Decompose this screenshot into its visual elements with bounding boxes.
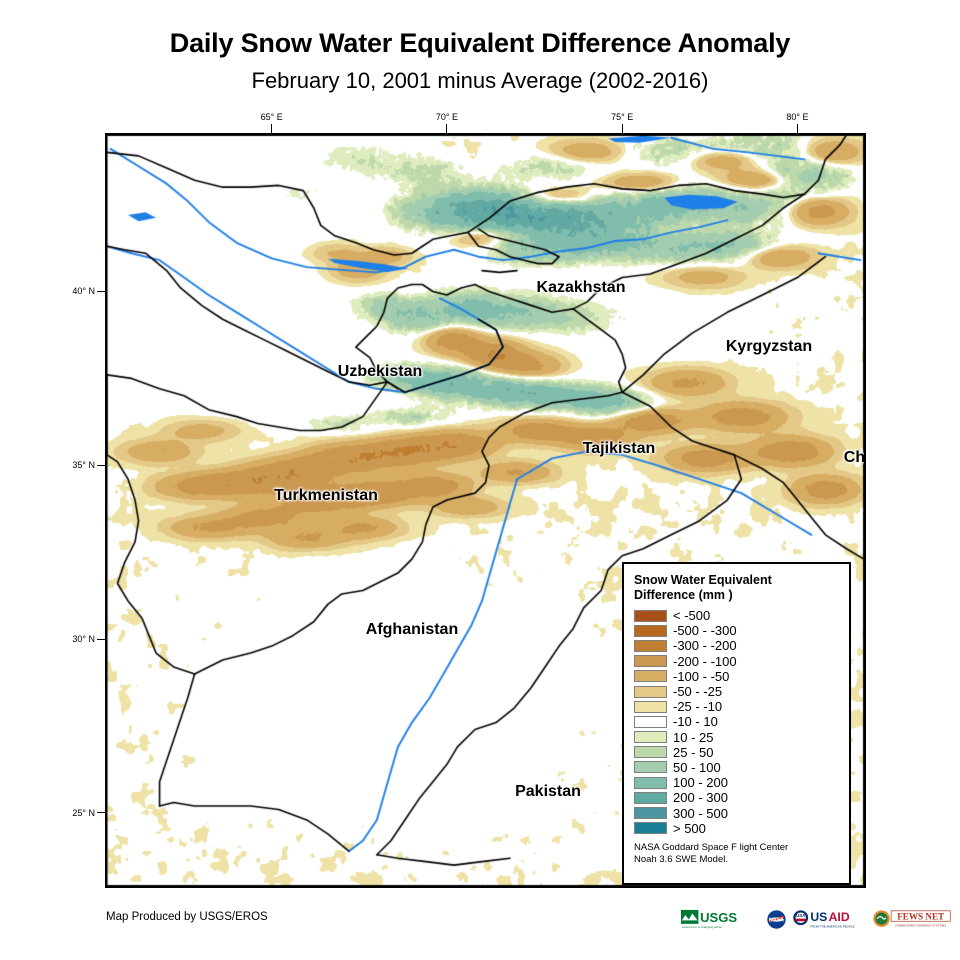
lat-tick-35: 35° N [43, 460, 95, 470]
lat-tick-mark-40 [97, 291, 105, 292]
lon-tick-mark-80 [797, 124, 798, 133]
legend-label: < -500 [673, 609, 710, 622]
lon-tick-mark-70 [446, 124, 447, 133]
legend-label: 100 - 200 [673, 776, 728, 789]
svg-text:NASA: NASA [769, 917, 784, 923]
lon-tick-mark-65 [271, 124, 272, 133]
legend-swatch [634, 777, 667, 789]
svg-text:science for a changing world: science for a changing world [682, 925, 722, 929]
legend-swatch [634, 792, 667, 804]
lon-tick-80: 80° E [786, 112, 808, 122]
svg-text:AID: AID [829, 910, 850, 924]
nasa-logo: NASA [766, 909, 787, 930]
svg-text:USA: USA [796, 913, 806, 918]
lon-tick-mark-75 [622, 124, 623, 133]
lat-tick-30: 30° N [43, 634, 95, 644]
legend-row: 25 - 50 [634, 745, 839, 760]
poster-root: Daily Snow Water Equivalent Difference A… [0, 0, 960, 960]
legend-row: 50 - 100 [634, 760, 839, 775]
legend-label: -10 - 10 [673, 715, 718, 728]
legend-label: -500 - -300 [673, 624, 737, 637]
legend-swatch [634, 822, 667, 834]
legend-swatch [634, 701, 667, 713]
lat-tick-mark-30 [97, 639, 105, 640]
svg-text:US: US [810, 910, 827, 924]
legend-label: 10 - 25 [673, 731, 713, 744]
usaid-logo: USA US AID FROM THE AMERICAN PEOPLE [792, 909, 867, 930]
legend-row: -300 - -200 [634, 638, 839, 653]
legend-row: < -500 [634, 608, 839, 623]
lat-tick-mark-25 [97, 812, 105, 813]
legend-title-line2: Difference (mm ) [634, 588, 839, 603]
legend-row: > 500 [634, 821, 839, 836]
lon-tick-65: 65° E [261, 112, 283, 122]
legend-swatch [634, 761, 667, 773]
legend-row: -100 - -50 [634, 669, 839, 684]
page-subtitle: February 10, 2001 minus Average (2002-20… [0, 68, 960, 94]
legend-row: 300 - 500 [634, 805, 839, 820]
lon-tick-75: 75° E [611, 112, 633, 122]
legend-panel: Snow Water Equivalent Difference (mm ) <… [622, 562, 851, 885]
lat-tick-25: 25° N [43, 808, 95, 818]
lat-tick-mark-35 [97, 465, 105, 466]
legend-row: 100 - 200 [634, 775, 839, 790]
legend-label: 25 - 50 [673, 746, 713, 759]
legend-row: -200 - -100 [634, 654, 839, 669]
legend-footnote-line2: Noah 3.6 SWE Model. [634, 854, 839, 866]
legend-swatch [634, 746, 667, 758]
legend-swatch [634, 686, 667, 698]
legend-row: -10 - 10 [634, 714, 839, 729]
map-credit: Map Produced by USGS/EROS [106, 911, 268, 923]
usgs-logo: USGS science for a changing world [681, 909, 761, 930]
legend-class-list: < -500-500 - -300-300 - -200-200 - -100-… [634, 608, 839, 836]
agency-logo-strip: USGS science for a changing world NASA U… [681, 909, 952, 930]
legend-swatch [634, 731, 667, 743]
lat-tick-40: 40° N [43, 286, 95, 296]
legend-label: -200 - -100 [673, 655, 737, 668]
legend-swatch [634, 807, 667, 819]
legend-swatch [634, 610, 667, 622]
legend-label: 200 - 300 [673, 791, 728, 804]
legend-label: > 500 [673, 822, 706, 835]
legend-label: -100 - -50 [673, 670, 729, 683]
legend-label: -300 - -200 [673, 639, 737, 652]
legend-row: -500 - -300 [634, 623, 839, 638]
lon-tick-70: 70° E [436, 112, 458, 122]
legend-title: Snow Water Equivalent Difference (mm ) [634, 573, 839, 603]
fewsnet-logo: FEWS NET FAMINE EARLY WARNING SYSTEMS [872, 909, 952, 930]
legend-row: 200 - 300 [634, 790, 839, 805]
legend-footnote-line1: NASA Goddard Space F light Center [634, 842, 839, 854]
legend-swatch [634, 625, 667, 637]
legend-row: -25 - -10 [634, 699, 839, 714]
svg-text:FROM THE AMERICAN PEOPLE: FROM THE AMERICAN PEOPLE [810, 924, 854, 928]
legend-label: -50 - -25 [673, 685, 722, 698]
legend-row: 10 - 25 [634, 730, 839, 745]
legend-row: -50 - -25 [634, 684, 839, 699]
svg-text:USGS: USGS [700, 910, 737, 925]
legend-label: 50 - 100 [673, 761, 721, 774]
svg-text:FAMINE EARLY WARNING SYSTEMS: FAMINE EARLY WARNING SYSTEMS [895, 923, 946, 927]
page-title: Daily Snow Water Equivalent Difference A… [0, 28, 960, 59]
legend-swatch [634, 640, 667, 652]
legend-footnote: NASA Goddard Space F light Center Noah 3… [634, 842, 839, 866]
legend-swatch [634, 655, 667, 667]
legend-label: 300 - 500 [673, 807, 728, 820]
legend-swatch [634, 670, 667, 682]
svg-text:FEWS NET: FEWS NET [897, 912, 944, 922]
legend-title-line1: Snow Water Equivalent [634, 573, 839, 588]
legend-label: -25 - -10 [673, 700, 722, 713]
legend-swatch [634, 716, 667, 728]
